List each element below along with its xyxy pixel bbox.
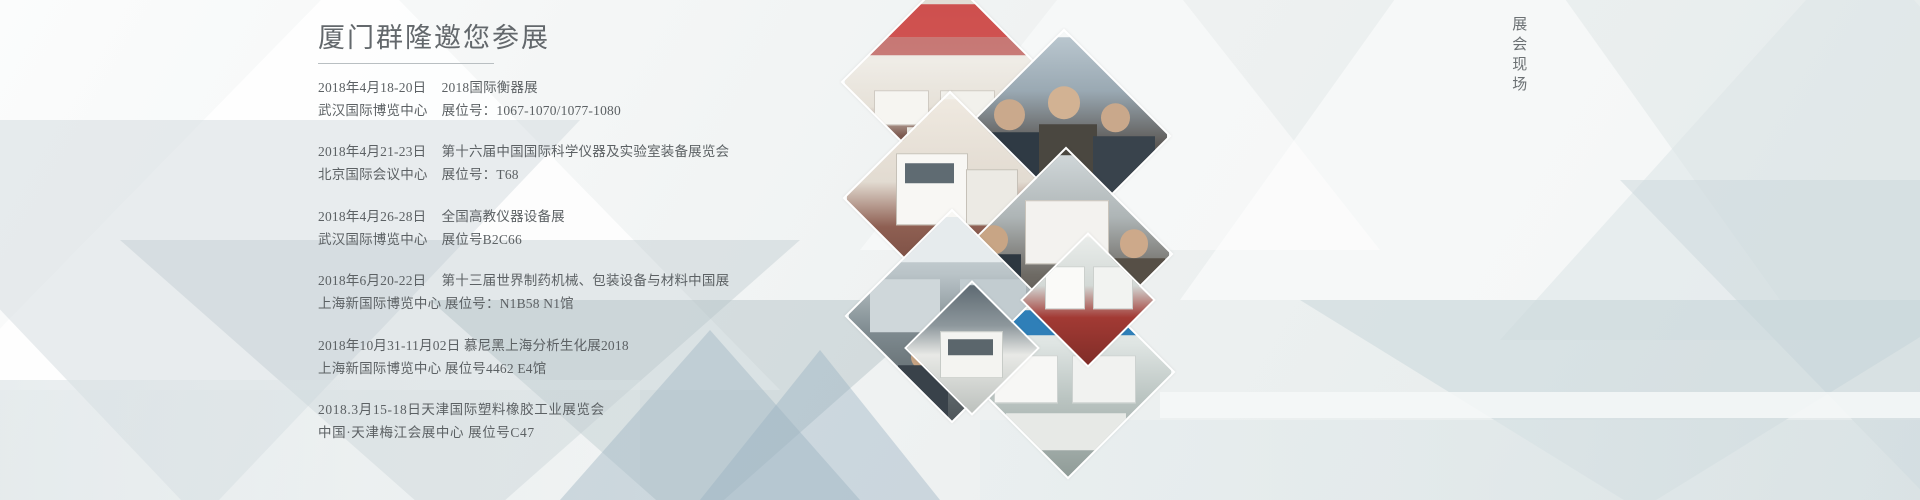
bg-facet — [1160, 392, 1920, 418]
bg-facet — [1500, 0, 1920, 340]
event-date: 2018年10月31-11月02日 — [318, 334, 460, 357]
shelf-unit — [1045, 267, 1085, 309]
banner-canvas: 厦门群隆邀您参展 2018年4月18-20日 2018国际衡器展 武汉国际博览中… — [0, 0, 1920, 500]
vertical-caption: 展会现场 — [1508, 16, 1528, 96]
event-date: 2018.3月15-18日天津国际塑料橡胶工业展览会 — [318, 398, 605, 421]
event-booth: 展位号：N1B58 N1馆 — [445, 292, 574, 315]
banner-strip — [845, 4, 1051, 37]
banner-strip — [845, 37, 1051, 56]
person-head — [1048, 87, 1081, 120]
event-booth: 展位号：1067-1070/1077-1080 — [442, 99, 621, 122]
event-name: 慕尼黑上海分析生化展2018 — [464, 334, 629, 357]
bg-facet — [1300, 300, 1920, 500]
event-name: 第十六届中国国际科学仪器及实验室装备展览会 — [442, 140, 730, 163]
event-date: 2018年6月20-22日 — [318, 269, 438, 292]
display-shelf — [1072, 356, 1136, 403]
event-name: 全国高教仪器设备展 — [442, 205, 565, 228]
product-screen — [948, 339, 994, 355]
event-date: 2018年4月26-28日 — [318, 205, 438, 228]
event-venue: 武汉国际博览中心 — [318, 99, 438, 122]
event-venue: 上海新国际博览中心 — [318, 357, 441, 380]
event-date: 2018年4月18-20日 — [318, 76, 438, 99]
person-head — [994, 99, 1025, 130]
display-shelf — [1006, 413, 1125, 450]
bg-facet — [1620, 180, 1920, 500]
person-head — [1120, 229, 1149, 258]
event-booth: 展位号4462 E4馆 — [445, 357, 547, 380]
event-booth: 展位号C47 — [468, 421, 535, 444]
instrument-screen — [905, 163, 954, 184]
event-venue: 上海新国际博览中心 — [318, 292, 441, 315]
title-divider — [318, 63, 494, 64]
event-name: 第十三届世界制药机械、包装设备与材料中国展 — [442, 269, 730, 292]
event-venue: 武汉国际博览中心 — [318, 228, 438, 251]
event-venue: 北京国际会议中心 — [318, 163, 438, 186]
shelf-unit — [1093, 267, 1133, 309]
bg-facet — [980, 420, 1920, 500]
photo-collage — [828, 0, 1248, 420]
person-head — [1101, 103, 1130, 132]
event-date: 2018年4月21-23日 — [318, 140, 438, 163]
event-venue-line: 中国·天津梅江会展中心 展位号C47 — [318, 421, 918, 444]
event-booth: 展位号：T68 — [442, 163, 519, 186]
bg-facet — [1180, 0, 1780, 300]
event-booth: 展位号B2C66 — [442, 228, 522, 251]
event-name: 2018国际衡器展 — [442, 76, 538, 99]
event-venue: 中国·天津梅江会展中心 — [318, 421, 464, 444]
